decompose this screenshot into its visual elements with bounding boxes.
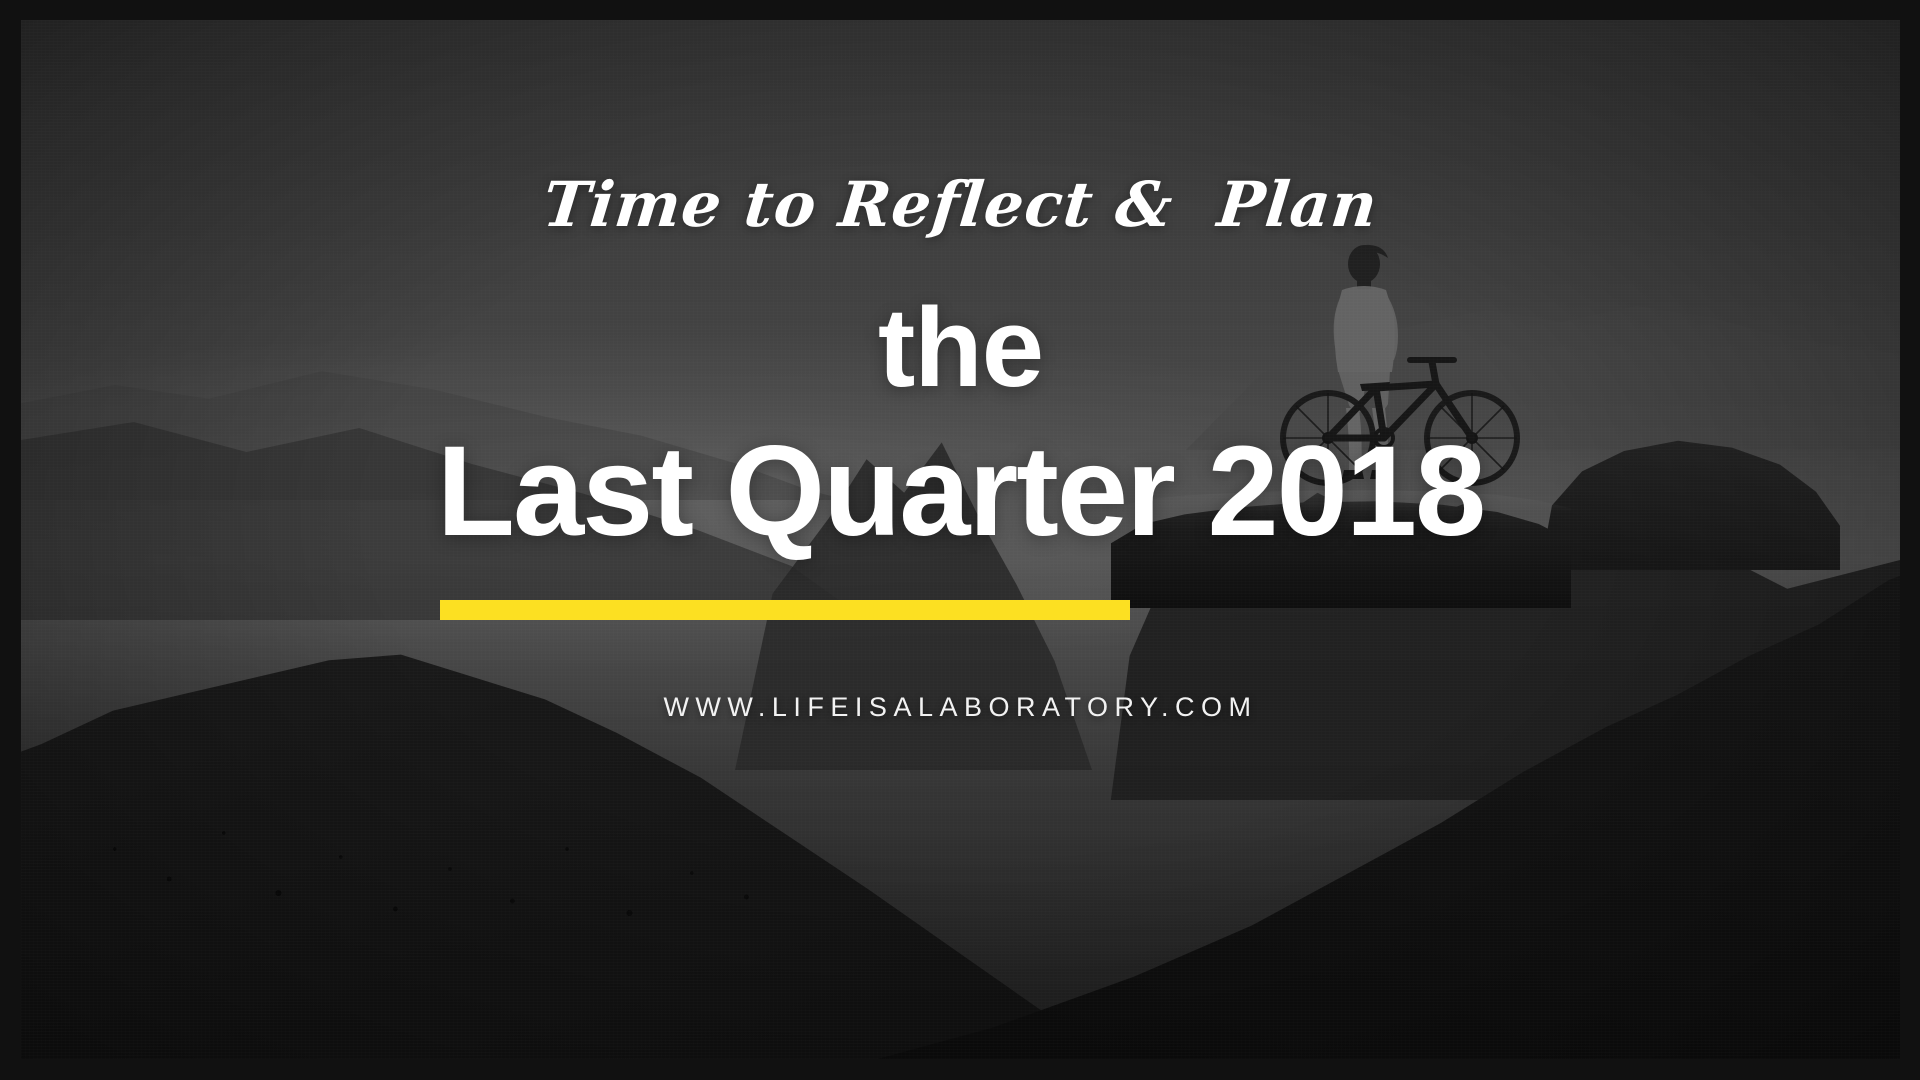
slide-frame: Time to Reflect & Plan the Last Quarter … <box>0 0 1920 1080</box>
headline-the: the <box>21 292 1900 404</box>
background-photo: Time to Reflect & Plan the Last Quarter … <box>21 20 1900 1059</box>
headline-last-quarter-2018: Last Quarter 2018 <box>21 428 1900 556</box>
site-url-text: WWW.LIFEISALABORATORY.COM <box>21 692 1900 723</box>
yellow-accent-rule <box>440 600 1130 620</box>
text-block: Time to Reflect & Plan the Last Quarter … <box>21 20 1900 1059</box>
kicker-script-text: Time to Reflect & Plan <box>21 168 1900 241</box>
